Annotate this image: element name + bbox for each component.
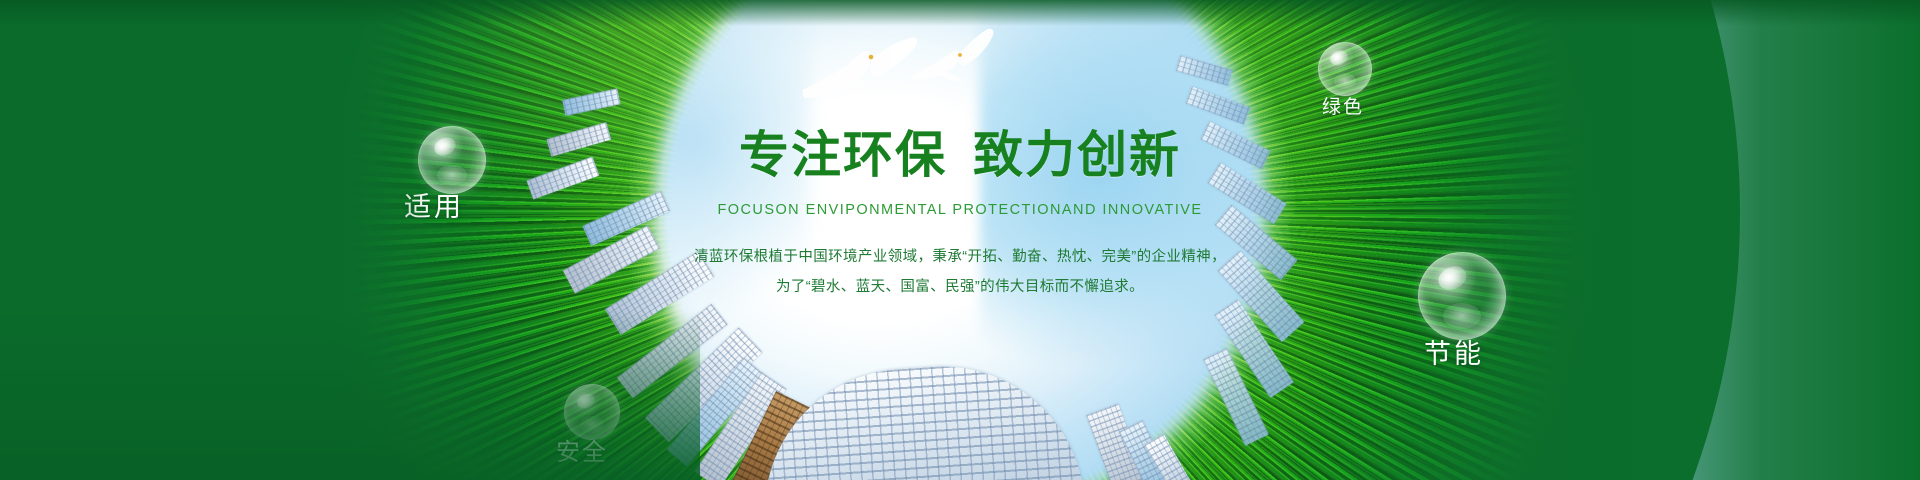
- green-edge-right: [1500, 0, 1920, 480]
- headline-part-1: 专注环保: [739, 126, 947, 184]
- green-edge-top: [0, 0, 1920, 26]
- green-edge-bottom-left: [0, 310, 700, 480]
- headline-part-2: 致力创新: [973, 126, 1181, 184]
- hero-banner: 适用 安全 绿色 节能 专注环保致力创新 FOCUSON ENVIPONMENT…: [0, 0, 1920, 480]
